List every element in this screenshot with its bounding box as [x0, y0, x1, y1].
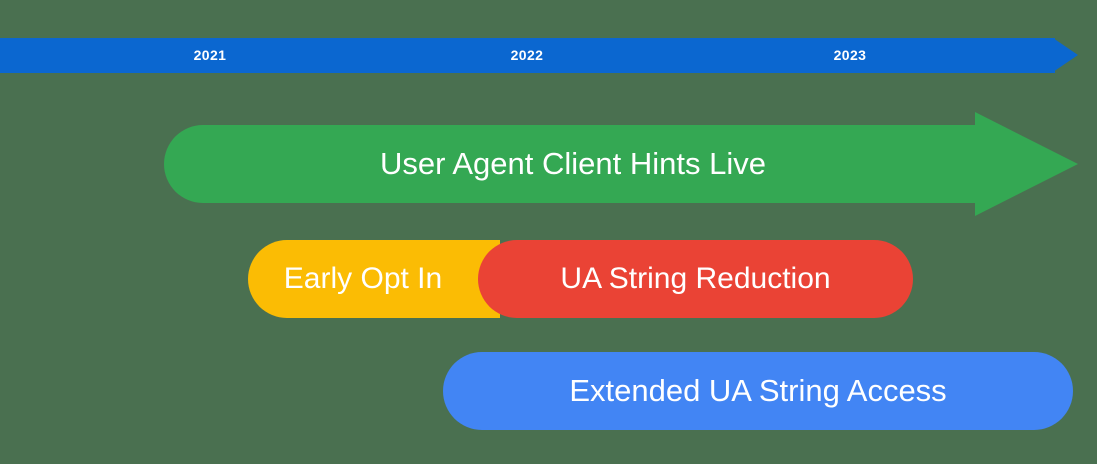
timeline-diagram: 2021 2022 2023 User Agent Client Hints L… [0, 0, 1097, 464]
year-tick-2021: 2021 [194, 38, 227, 73]
year-tick-2022: 2022 [511, 38, 544, 73]
bar-blue-label: Extended UA String Access [569, 373, 946, 409]
year-axis-arrowhead-icon [1053, 38, 1078, 72]
bar-extended-ua-string-access: Extended UA String Access [443, 352, 1073, 430]
bar-ua-string-reduction: UA String Reduction [478, 240, 913, 318]
bar-green-arrowhead-icon [975, 112, 1078, 216]
bar-red-label: UA String Reduction [560, 262, 830, 296]
bar-user-agent-client-hints-live: User Agent Client Hints Live [164, 112, 1078, 216]
year-axis: 2021 2022 2023 [0, 38, 1078, 73]
bar-green-label: User Agent Client Hints Live [164, 125, 982, 203]
year-tick-2023: 2023 [834, 38, 867, 73]
bar-yellow-label: Early Opt In [284, 262, 442, 296]
bar-early-opt-in: Early Opt In [248, 240, 500, 318]
